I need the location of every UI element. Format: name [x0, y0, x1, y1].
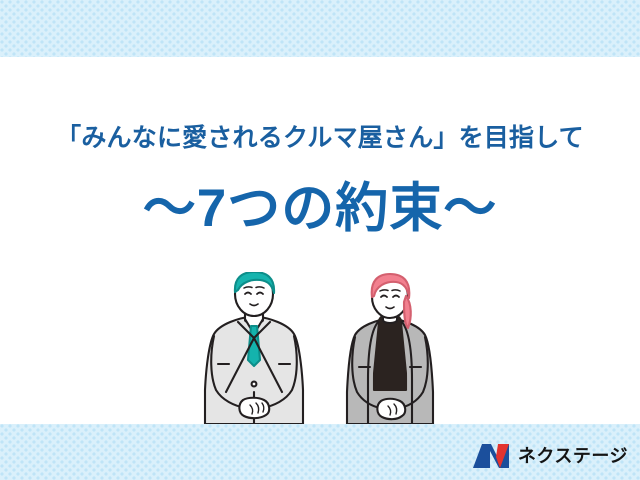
page-subtitle: 〜7つの約束〜: [0, 181, 640, 237]
nextage-n-mark-icon: [471, 443, 511, 469]
banner-stage: 「みんなに愛されるクルマ屋さん」を目指して 〜7つの約束〜: [0, 0, 640, 480]
page-title: 「みんなに愛されるクルマ屋さん」を目指して: [0, 126, 640, 151]
male-jacket-button: [252, 382, 257, 387]
nextage-logo-text: ネクステージ: [518, 447, 628, 465]
staff-illustration-group: [0, 272, 640, 424]
male-staff-illustration: [198, 272, 310, 424]
male-clasped-hands: [239, 398, 269, 418]
nextage-logo: ネクステージ: [471, 443, 628, 469]
female-hair-ponytail: [404, 296, 411, 328]
female-inner-top: [374, 316, 406, 390]
female-clasped-hands: [377, 399, 405, 419]
female-staff-illustration: [338, 272, 442, 424]
